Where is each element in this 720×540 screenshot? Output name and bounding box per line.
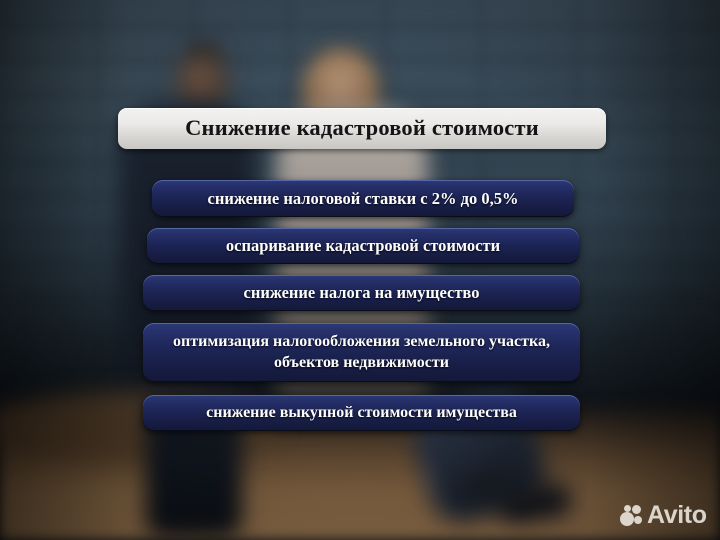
list-item: снижение выкупной стоимости имущества <box>143 395 580 431</box>
list-item-label: оспаривание кадастровой стоимости <box>226 235 500 256</box>
presentation-slide: Снижение кадастровой стоимости снижение … <box>0 0 720 540</box>
list-item: снижение налога на имущество <box>143 275 580 311</box>
list-item: снижение налоговой ставки с 2% до 0,5% <box>152 180 574 217</box>
list-item-label: снижение выкупной стоимости имущества <box>206 403 517 423</box>
avito-watermark: Avito <box>620 503 707 528</box>
list-item: оптимизация налогообложения земельного у… <box>143 323 580 382</box>
avito-dots-icon <box>620 505 643 527</box>
list-item-label: оптимизация налогообложения земельного у… <box>155 332 568 373</box>
slide-content: Снижение кадастровой стоимости снижение … <box>0 0 720 540</box>
avito-wordmark: Avito <box>647 503 707 528</box>
list-item-label: снижение налога на имущество <box>244 282 480 303</box>
list-item: оспаривание кадастровой стоимости <box>147 228 579 264</box>
slide-title-plaque: Снижение кадастровой стоимости <box>118 108 606 149</box>
list-item-label: снижение налоговой ставки с 2% до 0,5% <box>208 188 519 209</box>
page-title: Снижение кадастровой стоимости <box>185 117 539 140</box>
